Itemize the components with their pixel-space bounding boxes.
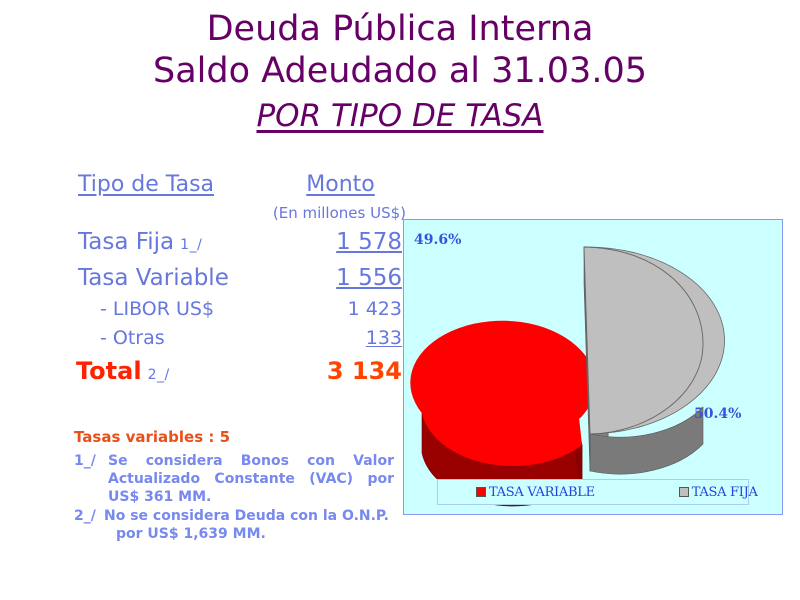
legend-label-tasa-variable: TASA VARIABLE [489, 485, 595, 500]
pie-chart-graphic [404, 220, 782, 514]
footnote-1: 1_/ Se considera Bonos con Valor Actuali… [74, 452, 394, 506]
title-line-2: Saldo Adeudado al 31.03.05 [0, 50, 800, 92]
legend-item-tasa-variable[interactable]: TASA VARIABLE [476, 485, 595, 500]
page-title: Deuda Pública Interna Saldo Adeudado al … [0, 8, 800, 136]
row-label-tasa-variable: Tasa Variable [72, 262, 283, 295]
legend-swatch-tasa-fija [679, 487, 689, 497]
column-header-monto: Monto [283, 170, 408, 200]
footnote-mark: 2_/ [142, 367, 170, 383]
pie-label-tasa-variable: 49.6% [414, 232, 461, 248]
row-amount-otras: 133 [283, 324, 408, 353]
row-amount-tasa-fija: 1 578 [283, 226, 408, 262]
footnote-2-continuation: por US$ 1,639 MM. [74, 525, 394, 543]
chart-legend: TASA VARIABLE TASA FIJA [437, 479, 749, 505]
row-label-text: Tasa Fija [78, 229, 174, 255]
footnote-2: 2_/ No se considera Deuda con la O.N.P. … [74, 507, 394, 543]
footnote-2-id: 2_/ [74, 507, 104, 525]
row-label-otras: - Otras [72, 324, 283, 353]
row-amount-libor: 1 423 [283, 295, 408, 324]
title-line-1: Deuda Pública Interna [0, 8, 800, 50]
footnotes-block: 1_/ Se considera Bonos con Valor Actuali… [74, 470, 394, 544]
table-row: - Otras 133 [72, 324, 408, 353]
amount-value: 133 [344, 327, 402, 349]
footnote-mark: 1_/ [174, 237, 202, 253]
row-label-libor: - LIBOR US$ [72, 295, 283, 324]
legend-swatch-tasa-variable [476, 487, 486, 497]
units-label: (En millones US$) [72, 200, 408, 226]
debt-breakdown-table: Tipo de Tasa Monto (En millones US$) Tas… [72, 170, 402, 393]
column-header-tipo-de-tasa: Tipo de Tasa [72, 170, 283, 200]
row-label-total: Total2_/ [72, 353, 283, 393]
table-row: - LIBOR US$ 1 423 [72, 295, 408, 324]
table-row: Tasa Variable 1 556 [72, 262, 408, 295]
pie-label-tasa-fija: 50.4% [694, 406, 741, 422]
footnote-2-text: No se considera Deuda con la O.N.P. [74, 507, 394, 525]
table-row: Tasa Fija1_/ 1 578 [72, 226, 408, 262]
footnote-1-text: Se considera Bonos con Valor Actualizado… [74, 452, 394, 506]
title-subtitle: POR TIPO DE TASA [256, 96, 543, 136]
total-label-text: Total [76, 357, 142, 385]
pie-chart-panel: 49.6% 50.4% TASA VARIABLE TASA FIJA [403, 219, 783, 515]
amount-value: 1 556 [336, 265, 408, 291]
table-units-row: (En millones US$) [72, 200, 408, 226]
legend-item-tasa-fija[interactable]: TASA FIJA [679, 485, 758, 500]
table: Tipo de Tasa Monto (En millones US$) Tas… [72, 170, 408, 393]
row-amount-total: 3 134 [283, 353, 408, 393]
footnote-1-id: 1_/ [74, 452, 104, 470]
variable-rates-count-note: Tasas variables : 5 [74, 428, 230, 446]
table-total-row: Total2_/ 3 134 [72, 353, 408, 393]
pie-slice-tasa-fija [584, 247, 725, 474]
row-amount-tasa-variable: 1 556 [283, 262, 408, 295]
table-header-row: Tipo de Tasa Monto [72, 170, 408, 200]
row-label-tasa-fija: Tasa Fija1_/ [72, 226, 283, 262]
amount-value: 1 578 [336, 229, 408, 255]
legend-label-tasa-fija: TASA FIJA [692, 485, 758, 500]
